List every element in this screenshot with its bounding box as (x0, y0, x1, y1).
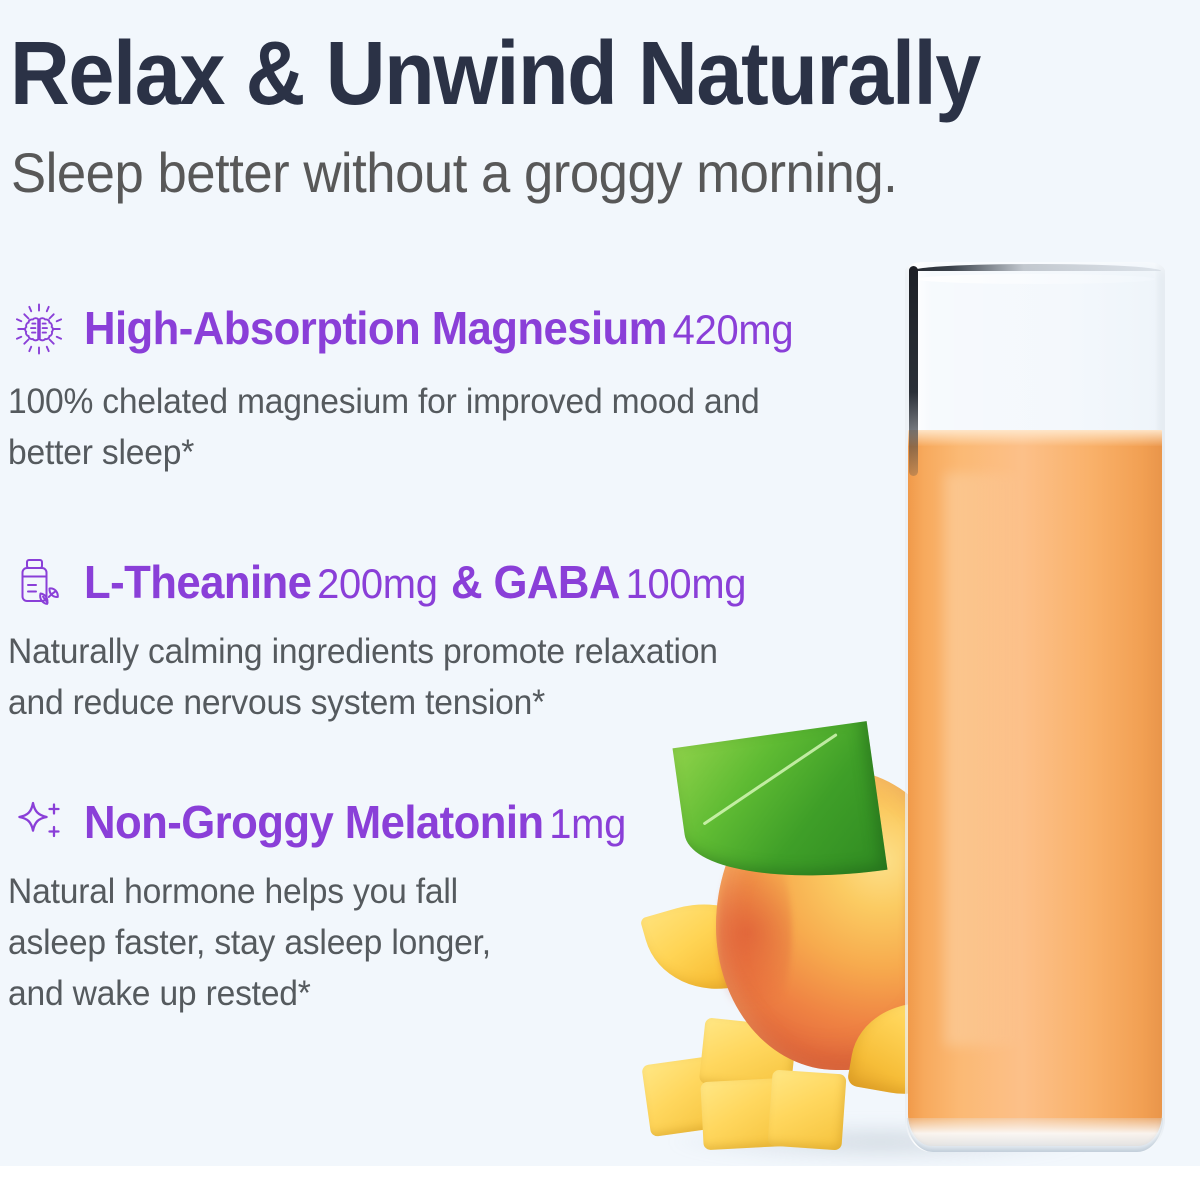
feature-title-secondary: & GABA (451, 556, 620, 608)
glass-base (907, 1118, 1163, 1152)
sparkle-plus-icon (8, 792, 70, 854)
brain-rays-icon (8, 298, 70, 360)
feature-description: Naturally calming ingredients promote re… (8, 626, 776, 728)
feature-description: 100% chelated magnesium for improved moo… (8, 376, 853, 478)
bottom-white-band (0, 1166, 1200, 1200)
glass-rim (911, 264, 1161, 271)
feature-heading-row: Non-Groggy Melatonin1mg (8, 792, 748, 854)
feature-theanine-gaba: L-Theanine200mg& GABA100mg Naturally cal… (8, 552, 808, 728)
feature-dose: 420mg (673, 306, 794, 353)
glass-left-edge (909, 266, 918, 476)
feature-dose-secondary: 100mg (626, 560, 747, 607)
feature-title: High-Absorption Magnesium420mg (84, 302, 793, 356)
feature-title: Non-Groggy Melatonin1mg (84, 796, 626, 850)
feature-heading-row: High-Absorption Magnesium420mg (8, 298, 888, 360)
promo-image-root: Relax & Unwind Naturally Sleep better wi… (0, 0, 1200, 1200)
feature-dose: 200mg (317, 560, 438, 607)
feature-heading-row: L-Theanine200mg& GABA100mg (8, 552, 808, 614)
feature-magnesium: High-Absorption Magnesium420mg 100% chel… (8, 298, 888, 478)
juice-liquid (908, 430, 1162, 1146)
juice-highlight (944, 473, 1020, 1046)
juice-foam-line (908, 430, 1162, 446)
feature-dose: 1mg (549, 800, 626, 847)
mango-cube (767, 1070, 846, 1151)
supplement-bottle-leaf-icon (8, 552, 70, 614)
feature-melatonin: Non-Groggy Melatonin1mg Natural hormone … (8, 792, 748, 1019)
page-subtitle: Sleep better without a groggy morning. (11, 142, 897, 204)
feature-title: L-Theanine200mg& GABA100mg (84, 556, 746, 610)
glass-rim-inner (917, 274, 1155, 284)
juice-glass (905, 262, 1165, 1152)
feature-description: Natural hormone helps you fall asleep fa… (8, 866, 718, 1019)
page-title: Relax & Unwind Naturally (10, 26, 1050, 122)
